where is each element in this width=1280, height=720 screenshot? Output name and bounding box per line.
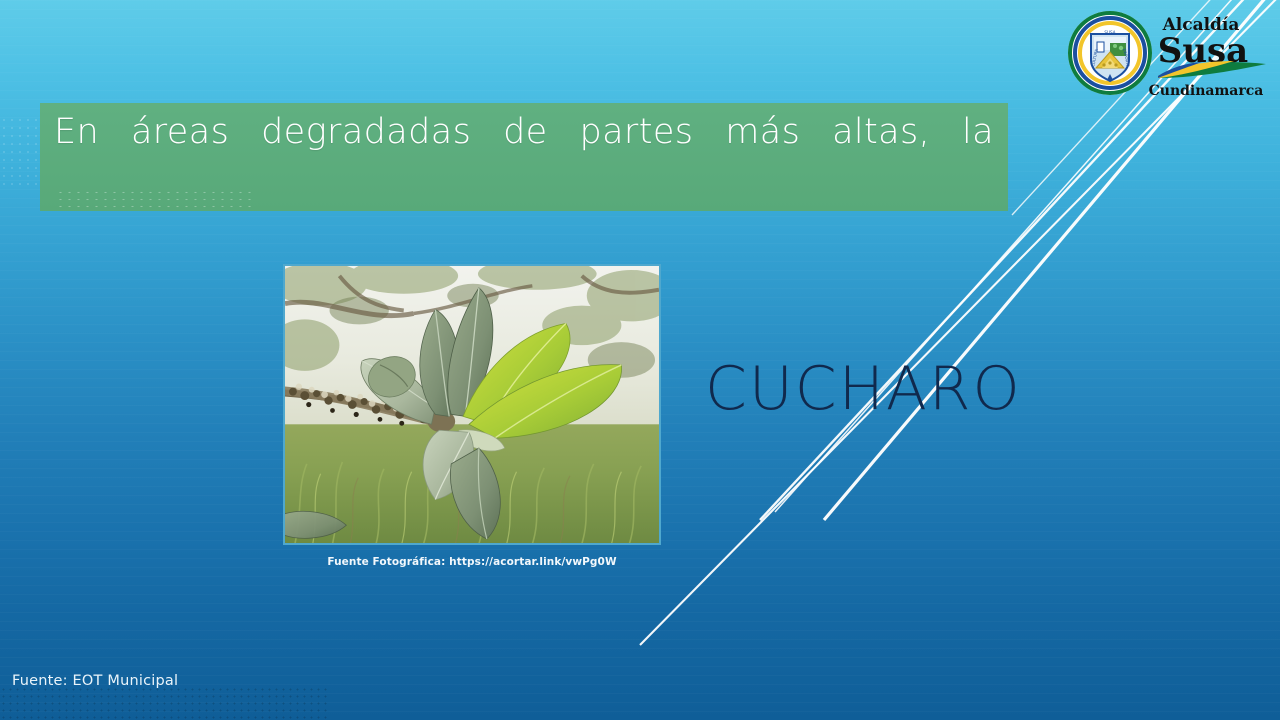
title-banner: En áreas degradadas de partes más altas,…: [40, 103, 1008, 211]
alcaldia-susa-logo: SUSA CULTURA DEPORTE Alcaldía Susa Cundi…: [1066, 8, 1276, 100]
keyword-cucharo: CUCHARO: [705, 358, 1022, 420]
crest-icon: SUSA CULTURA DEPORTE: [1068, 11, 1152, 95]
plant-photo-image: [285, 266, 659, 544]
crest-motto-top: SUSA: [1104, 30, 1115, 35]
page-title: En áreas degradadas de partes más altas,…: [40, 103, 1008, 211]
footer-source: Fuente: EOT Municipal: [12, 673, 178, 689]
title-line-1: En áreas degradadas de partes más altas,…: [54, 108, 994, 206]
plant-photo: [283, 264, 661, 545]
slide-canvas: En áreas degradadas de partes más altas,…: [0, 0, 1280, 720]
dot-pattern-bottom-left: [0, 686, 330, 720]
title-line-2: especie más importante es:: [54, 206, 994, 211]
photo-caption: Fuente Fotográfica: https://acortar.link…: [283, 556, 661, 568]
logo-line-cundinamarca: Cundinamarca: [1149, 83, 1264, 99]
